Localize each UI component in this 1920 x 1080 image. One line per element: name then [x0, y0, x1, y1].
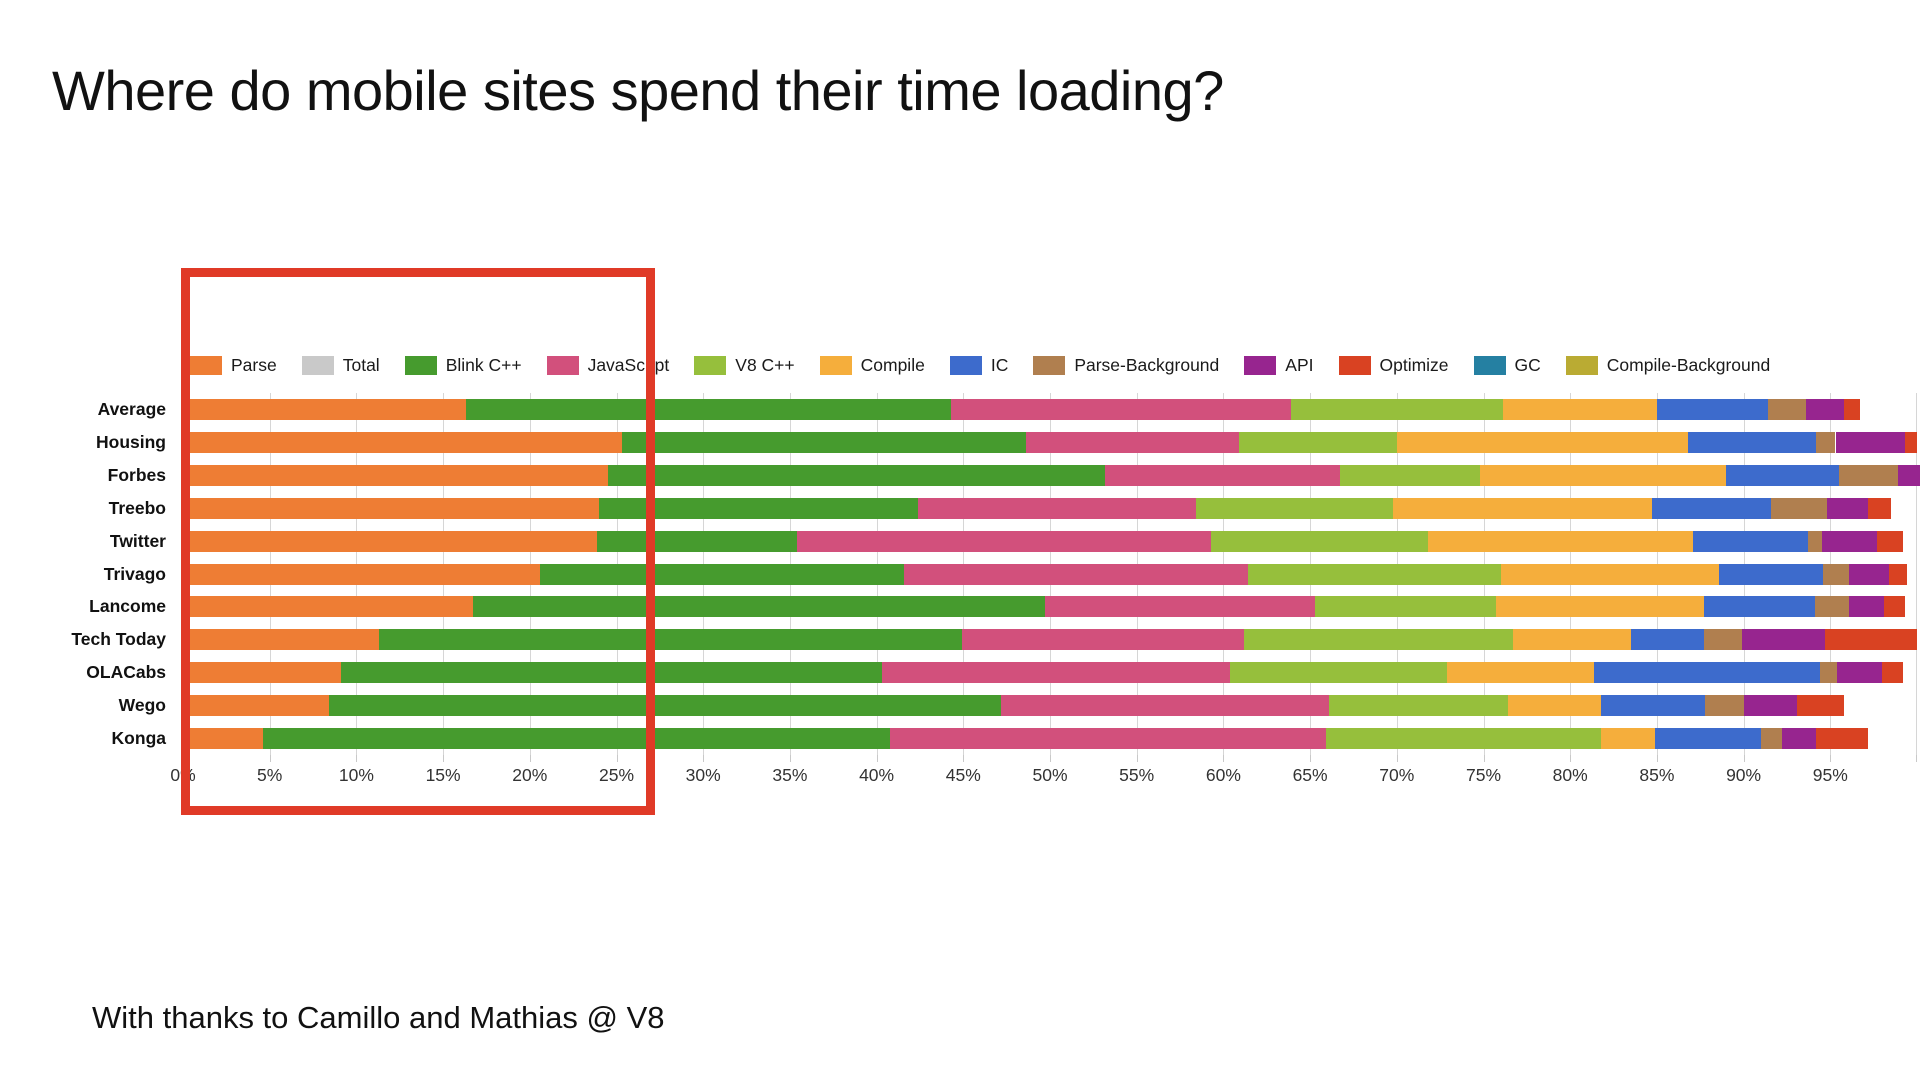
- legend-swatch-icon: [405, 356, 437, 375]
- bar-segment-blink-c-[interactable]: [341, 662, 882, 683]
- bar-row[interactable]: [183, 695, 1917, 716]
- bar-segment-parse[interactable]: [183, 695, 329, 716]
- bar-segment-ic[interactable]: [1657, 399, 1768, 420]
- legend-item-v8-c-[interactable]: V8 C++: [694, 355, 794, 376]
- legend-item-label: Total: [343, 355, 380, 376]
- bar-row[interactable]: [183, 399, 1917, 420]
- bar-segment-parse-background[interactable]: [1771, 498, 1826, 519]
- bar-segment-blink-c-[interactable]: [597, 531, 796, 552]
- legend-item-label: Blink C++: [446, 355, 522, 376]
- legend-item-label: Parse-Background: [1074, 355, 1219, 376]
- legend-item-api[interactable]: API: [1244, 355, 1313, 376]
- bar-segment-parse-background[interactable]: [1768, 399, 1806, 420]
- legend-item-label: JavaScript: [588, 355, 670, 376]
- legend-item-gc[interactable]: GC: [1474, 355, 1541, 376]
- legend-item-label: GC: [1515, 355, 1541, 376]
- bar-segment-optimize[interactable]: [1844, 399, 1860, 420]
- bar-segment-ic[interactable]: [1693, 531, 1807, 552]
- x-axis-tick: [270, 755, 271, 762]
- legend-swatch-icon: [190, 356, 222, 375]
- bar-segment-javascript[interactable]: [1105, 465, 1339, 486]
- bar-row[interactable]: [183, 531, 1917, 552]
- legend-item-label: Compile-Background: [1607, 355, 1770, 376]
- y-axis-label: Wego: [119, 695, 166, 716]
- x-axis-tick: [790, 755, 791, 762]
- x-axis-label: 35%: [772, 765, 807, 786]
- legend-item-compile[interactable]: Compile: [820, 355, 925, 376]
- bar-segment-ic[interactable]: [1652, 498, 1772, 519]
- legend-item-label: V8 C++: [735, 355, 794, 376]
- x-axis-tick: [443, 755, 444, 762]
- bar-segment-parse[interactable]: [183, 465, 608, 486]
- bar-segment-javascript[interactable]: [882, 662, 1231, 683]
- x-axis-label: 15%: [426, 765, 461, 786]
- legend-swatch-icon: [950, 356, 982, 375]
- legend-item-label: API: [1285, 355, 1313, 376]
- bar-segment-api[interactable]: [1782, 728, 1817, 749]
- bar-segment-ic[interactable]: [1655, 728, 1761, 749]
- bar-segment-v8-c-[interactable]: [1211, 531, 1428, 552]
- bar-segment-parse[interactable]: [183, 498, 599, 519]
- legend-swatch-icon: [1474, 356, 1506, 375]
- bar-segment-v8-c-[interactable]: [1326, 728, 1602, 749]
- legend-item-label: Optimize: [1380, 355, 1449, 376]
- x-axis-tick: [703, 755, 704, 762]
- bar-row[interactable]: [183, 596, 1917, 617]
- x-axis-tick: [1310, 755, 1311, 762]
- bar-segment-optimize[interactable]: [1884, 596, 1905, 617]
- bar-segment-v8-c-[interactable]: [1248, 564, 1501, 585]
- x-axis-tick: [963, 755, 964, 762]
- x-axis-tick: [530, 755, 531, 762]
- bar-segment-optimize[interactable]: [1882, 662, 1903, 683]
- x-axis-label: 50%: [1032, 765, 1067, 786]
- bar-segment-api[interactable]: [1742, 629, 1825, 650]
- x-axis-label: 65%: [1293, 765, 1328, 786]
- bar-segment-javascript[interactable]: [1026, 432, 1239, 453]
- y-axis-label: Forbes: [108, 465, 166, 486]
- y-axis-label: OLACabs: [86, 662, 166, 683]
- y-axis-label: Treebo: [109, 498, 166, 519]
- bar-segment-blink-c-[interactable]: [473, 596, 1045, 617]
- bar-segment-v8-c-[interactable]: [1244, 629, 1513, 650]
- bar-segment-compile[interactable]: [1447, 662, 1594, 683]
- bar-segment-parse-background[interactable]: [1823, 564, 1849, 585]
- plot-area: [183, 393, 1917, 755]
- bar-segment-v8-c-[interactable]: [1291, 399, 1503, 420]
- x-axis-tick: [1484, 755, 1485, 762]
- x-axis-label: 75%: [1466, 765, 1501, 786]
- y-axis-label: Konga: [112, 728, 166, 749]
- legend-swatch-icon: [1033, 356, 1065, 375]
- bar-row[interactable]: [183, 629, 1917, 650]
- x-axis-tick: [1657, 755, 1658, 762]
- bar-row[interactable]: [183, 498, 1917, 519]
- bar-segment-parse[interactable]: [183, 728, 263, 749]
- legend-swatch-icon: [694, 356, 726, 375]
- bar-segment-parse-background[interactable]: [1816, 432, 1835, 453]
- bar-segment-javascript[interactable]: [962, 629, 1245, 650]
- bar-segment-v8-c-[interactable]: [1196, 498, 1394, 519]
- bar-segment-api[interactable]: [1822, 531, 1877, 552]
- bar-segment-compile[interactable]: [1501, 564, 1719, 585]
- x-axis-tick: [1050, 755, 1051, 762]
- bar-segment-optimize[interactable]: [1825, 629, 1917, 650]
- bar-row[interactable]: [183, 564, 1917, 585]
- y-axis-label: Trivago: [104, 564, 166, 585]
- x-axis-label: 45%: [946, 765, 981, 786]
- page-title: Where do mobile sites spend their time l…: [52, 58, 1224, 123]
- bar-segment-optimize[interactable]: [1868, 498, 1891, 519]
- bar-segment-ic[interactable]: [1631, 629, 1704, 650]
- x-axis-label: 25%: [599, 765, 634, 786]
- bar-segment-compile[interactable]: [1393, 498, 1651, 519]
- x-axis-tick: [1223, 755, 1224, 762]
- stacked-bar-chart: ParseTotalBlink C++JavaScriptV8 C++Compi…: [0, 255, 1920, 815]
- x-axis-tick: [1744, 755, 1745, 762]
- x-axis-label: 55%: [1119, 765, 1154, 786]
- x-axis-tick: [1397, 755, 1398, 762]
- bar-row[interactable]: [183, 465, 1917, 486]
- bar-row[interactable]: [183, 662, 1917, 683]
- legend-item-ic[interactable]: IC: [950, 355, 1009, 376]
- bar-segment-parse[interactable]: [183, 399, 466, 420]
- bar-segment-parse[interactable]: [183, 432, 622, 453]
- bar-segment-javascript[interactable]: [918, 498, 1195, 519]
- x-axis-label: 70%: [1379, 765, 1414, 786]
- x-axis-tick: [183, 755, 184, 762]
- bar-segment-parse-background[interactable]: [1761, 728, 1782, 749]
- bar-segment-ic[interactable]: [1704, 596, 1815, 617]
- y-axis: AverageHousingForbesTreeboTwitterTrivago…: [0, 393, 176, 755]
- bar-segment-ic[interactable]: [1688, 432, 1816, 453]
- x-axis-tick: [1830, 755, 1831, 762]
- bar-segment-javascript[interactable]: [1001, 695, 1329, 716]
- bar-segment-compile[interactable]: [1503, 399, 1657, 420]
- bar-segment-blink-c-[interactable]: [608, 465, 1106, 486]
- legend-item-blink-c-[interactable]: Blink C++: [405, 355, 522, 376]
- bar-segment-blink-c-[interactable]: [466, 399, 952, 420]
- x-axis-label: 90%: [1726, 765, 1761, 786]
- bar-segment-parse-background[interactable]: [1705, 695, 1743, 716]
- bar-segment-blink-c-[interactable]: [622, 432, 1026, 453]
- bar-segment-parse[interactable]: [183, 596, 473, 617]
- x-axis-tick: [1916, 755, 1917, 762]
- x-axis: 0%5%10%15%20%25%30%35%40%45%50%55%60%65%…: [183, 755, 1917, 795]
- bar-segment-parse[interactable]: [183, 531, 597, 552]
- bar-segment-optimize[interactable]: [1877, 531, 1903, 552]
- legend-item-optimize[interactable]: Optimize: [1339, 355, 1449, 376]
- bar-segment-v8-c-[interactable]: [1230, 662, 1447, 683]
- x-axis-label: 40%: [859, 765, 894, 786]
- bar-segment-ic[interactable]: [1726, 465, 1839, 486]
- bar-segment-blink-c-[interactable]: [540, 564, 904, 585]
- x-axis-label: 60%: [1206, 765, 1241, 786]
- bar-segment-api[interactable]: [1849, 564, 1889, 585]
- legend-item-javascript[interactable]: JavaScript: [547, 355, 670, 376]
- legend-swatch-icon: [820, 356, 852, 375]
- bar-segment-compile[interactable]: [1397, 432, 1688, 453]
- bar-segment-v8-c-[interactable]: [1329, 695, 1508, 716]
- legend-item-label: Compile: [861, 355, 925, 376]
- bar-segment-v8-c-[interactable]: [1239, 432, 1397, 453]
- bar-segment-v8-c-[interactable]: [1340, 465, 1480, 486]
- x-axis-label: 20%: [512, 765, 547, 786]
- bar-segment-optimize[interactable]: [1816, 728, 1868, 749]
- bar-segment-compile[interactable]: [1480, 465, 1726, 486]
- x-axis-label: 10%: [339, 765, 374, 786]
- legend-item-label: Parse: [231, 355, 277, 376]
- bar-segment-javascript[interactable]: [797, 531, 1211, 552]
- bar-segment-parse-background[interactable]: [1815, 596, 1850, 617]
- x-axis-label: 80%: [1553, 765, 1588, 786]
- bar-rows: [183, 393, 1917, 755]
- bar-segment-blink-c-[interactable]: [329, 695, 1002, 716]
- bar-segment-parse-background[interactable]: [1704, 629, 1742, 650]
- y-axis-label: Twitter: [110, 531, 166, 552]
- bar-segment-ic[interactable]: [1601, 695, 1705, 716]
- x-axis-label: 0%: [170, 765, 195, 786]
- footer-attribution: With thanks to Camillo and Mathias @ V8: [92, 1000, 665, 1036]
- legend-item-label: IC: [991, 355, 1009, 376]
- bar-segment-api[interactable]: [1837, 662, 1882, 683]
- x-axis-tick: [356, 755, 357, 762]
- x-axis-tick: [1137, 755, 1138, 762]
- bar-segment-optimize[interactable]: [1889, 564, 1906, 585]
- bar-segment-javascript[interactable]: [951, 399, 1291, 420]
- bar-segment-ic[interactable]: [1719, 564, 1823, 585]
- y-axis-label: Housing: [96, 432, 166, 453]
- bar-segment-parse[interactable]: [183, 629, 379, 650]
- chart-legend: ParseTotalBlink C++JavaScriptV8 C++Compi…: [190, 352, 1795, 378]
- legend-item-parse[interactable]: Parse: [190, 355, 277, 376]
- y-axis-label: Lancome: [89, 596, 166, 617]
- bar-segment-v8-c-[interactable]: [1315, 596, 1495, 617]
- legend-item-compile-background[interactable]: Compile-Background: [1566, 355, 1770, 376]
- x-axis-label: 30%: [686, 765, 721, 786]
- bar-segment-api[interactable]: [1836, 432, 1905, 453]
- x-axis-label: 5%: [257, 765, 282, 786]
- bar-segment-api[interactable]: [1827, 498, 1869, 519]
- bar-segment-javascript[interactable]: [904, 564, 1247, 585]
- x-axis-tick: [877, 755, 878, 762]
- bar-segment-blink-c-[interactable]: [263, 728, 891, 749]
- bar-segment-api[interactable]: [1849, 596, 1884, 617]
- bar-segment-parse[interactable]: [183, 564, 540, 585]
- bar-segment-parse-background[interactable]: [1820, 662, 1837, 683]
- legend-item-total[interactable]: Total: [302, 355, 380, 376]
- bar-segment-compile[interactable]: [1428, 531, 1693, 552]
- x-axis-tick: [1570, 755, 1571, 762]
- bar-segment-compile[interactable]: [1601, 728, 1655, 749]
- x-axis-label: 85%: [1639, 765, 1674, 786]
- bar-segment-blink-c-[interactable]: [599, 498, 918, 519]
- legend-item-parse-background[interactable]: Parse-Background: [1033, 355, 1219, 376]
- legend-swatch-icon: [1339, 356, 1371, 375]
- bar-segment-api[interactable]: [1744, 695, 1798, 716]
- x-axis-label: 95%: [1813, 765, 1848, 786]
- bar-row[interactable]: [183, 432, 1917, 453]
- bar-segment-compile[interactable]: [1496, 596, 1704, 617]
- bar-segment-javascript[interactable]: [890, 728, 1325, 749]
- y-axis-label: Tech Today: [71, 629, 166, 650]
- bar-segment-parse[interactable]: [183, 662, 341, 683]
- legend-swatch-icon: [302, 356, 334, 375]
- bar-segment-api[interactable]: [1806, 399, 1844, 420]
- y-axis-label: Average: [98, 399, 166, 420]
- bar-segment-parse-background[interactable]: [1808, 531, 1822, 552]
- x-axis-tick: [617, 755, 618, 762]
- legend-swatch-icon: [547, 356, 579, 375]
- bar-segment-javascript[interactable]: [1045, 596, 1316, 617]
- bar-segment-compile[interactable]: [1508, 695, 1602, 716]
- bar-row[interactable]: [183, 728, 1917, 749]
- bar-segment-optimize[interactable]: [1905, 432, 1917, 453]
- bar-segment-blink-c-[interactable]: [379, 629, 962, 650]
- legend-swatch-icon: [1566, 356, 1598, 375]
- bar-segment-optimize[interactable]: [1797, 695, 1844, 716]
- legend-swatch-icon: [1244, 356, 1276, 375]
- bar-segment-parse-background[interactable]: [1839, 465, 1898, 486]
- bar-segment-compile[interactable]: [1513, 629, 1631, 650]
- bar-segment-ic[interactable]: [1594, 662, 1819, 683]
- bar-segment-api[interactable]: [1898, 465, 1920, 486]
